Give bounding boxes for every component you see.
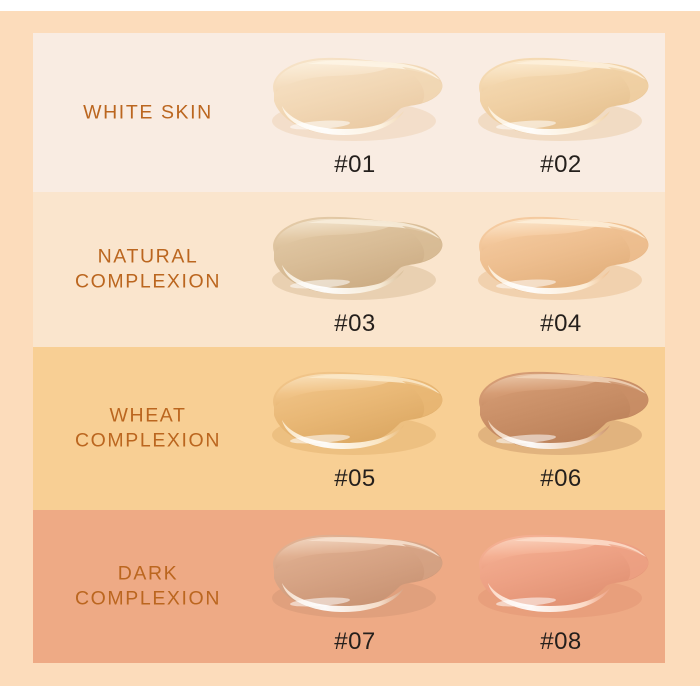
shade-chart-canvas: WHITE SKIN #01 #02 NATURAL COMPLEXION #0… xyxy=(0,0,700,700)
shade-code-label: #04 xyxy=(461,310,661,338)
swatch-image[interactable] xyxy=(468,208,654,306)
shade-band-4: DARK COMPLEXION #07 #08 xyxy=(33,510,665,663)
swatch-cell-04: #04 xyxy=(461,192,661,347)
foundation-swatch-shape xyxy=(262,363,448,461)
band-label-2: NATURAL COMPLEXION xyxy=(33,244,263,295)
shade-code-label: #05 xyxy=(255,465,455,493)
foundation-swatch-shape xyxy=(468,526,654,624)
swatch-cell-07: #07 xyxy=(255,510,455,663)
shade-code-label: #06 xyxy=(461,465,661,493)
swatch-cell-05: #05 xyxy=(255,347,455,510)
shade-code-label: #01 xyxy=(255,151,455,179)
swatch-cell-03: #03 xyxy=(255,192,455,347)
swatch-image[interactable] xyxy=(468,49,654,147)
swatch-cell-01: #01 xyxy=(255,33,455,192)
foundation-swatch-shape xyxy=(262,208,448,306)
shade-code-label: #08 xyxy=(461,628,661,656)
swatch-cell-08: #08 xyxy=(461,510,661,663)
shade-band-1: WHITE SKIN #01 #02 xyxy=(33,33,665,192)
band-label-1: WHITE SKIN xyxy=(33,100,263,125)
swatch-image[interactable] xyxy=(262,208,448,306)
swatch-image[interactable] xyxy=(468,526,654,624)
foundation-swatch-shape xyxy=(262,526,448,624)
swatch-cell-06: #06 xyxy=(461,347,661,510)
shade-code-label: #03 xyxy=(255,310,455,338)
swatch-image[interactable] xyxy=(262,526,448,624)
foundation-swatch-shape xyxy=(262,49,448,147)
band-label-3: WHEAT COMPLEXION xyxy=(33,403,263,454)
foundation-swatch-shape xyxy=(468,363,654,461)
swatch-cell-02: #02 xyxy=(461,33,661,192)
foundation-swatch-shape xyxy=(468,208,654,306)
foundation-swatch-shape xyxy=(468,49,654,147)
shade-band-3: WHEAT COMPLEXION #05 #06 xyxy=(33,347,665,510)
band-label-4: DARK COMPLEXION xyxy=(33,561,263,612)
swatch-image[interactable] xyxy=(262,363,448,461)
shade-code-label: #02 xyxy=(461,151,661,179)
swatch-image[interactable] xyxy=(262,49,448,147)
shade-band-2: NATURAL COMPLEXION #03 #04 xyxy=(33,192,665,347)
swatch-image[interactable] xyxy=(468,363,654,461)
shade-panel: WHITE SKIN #01 #02 NATURAL COMPLEXION #0… xyxy=(33,33,665,663)
shade-code-label: #07 xyxy=(255,628,455,656)
